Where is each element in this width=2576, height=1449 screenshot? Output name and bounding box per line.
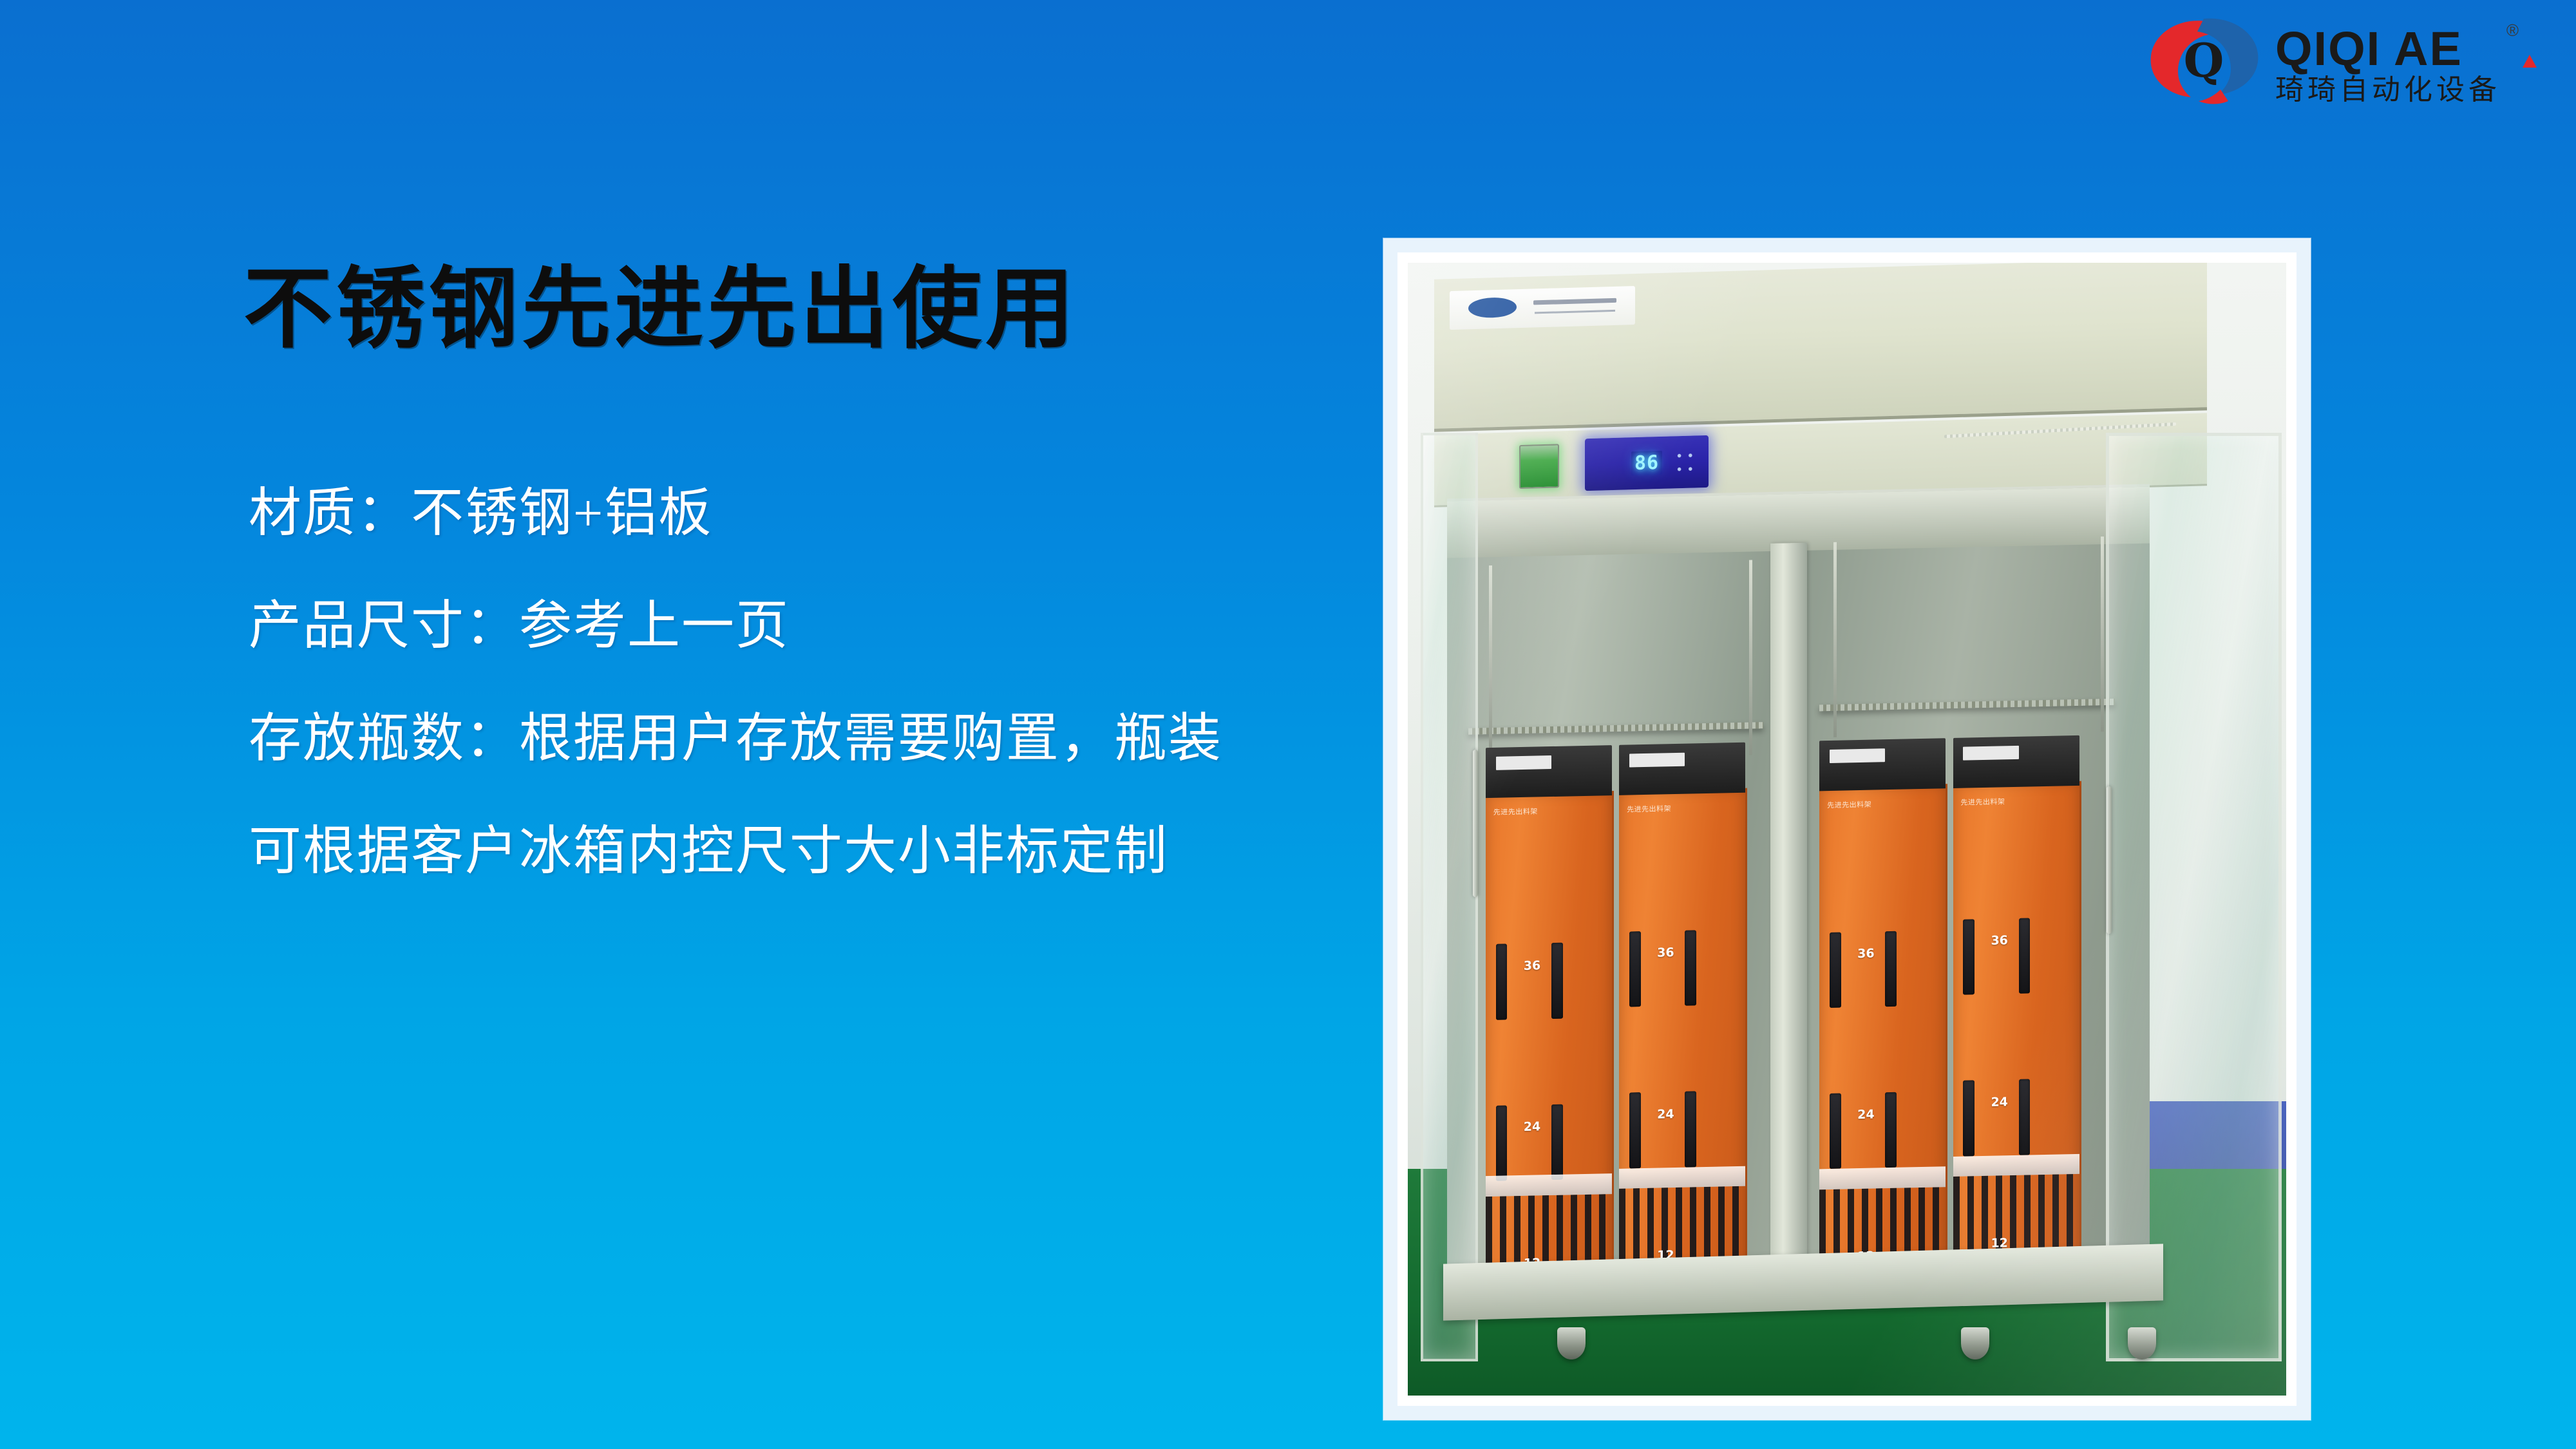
product-photo-mat: 86 先进先出料架	[1397, 252, 2297, 1406]
qiqi-q-logo-icon: Q	[2145, 14, 2264, 117]
company-logo: Q QIQI AE ® 琦琦自动化设备	[2145, 12, 2557, 118]
power-switch-icon	[1519, 444, 1559, 489]
rack-band	[1953, 1154, 2079, 1177]
fridge-top-hood	[1434, 263, 2207, 432]
product-photo-frame: 86 先进先出料架	[1383, 238, 2311, 1420]
wire-shelf-left	[1468, 723, 1763, 735]
caster-wheel-icon	[1961, 1327, 1989, 1359]
door-handle-icon	[2107, 786, 2112, 934]
temperature-display: 86	[1585, 435, 1709, 491]
rack-number: 24	[1524, 1120, 1540, 1135]
spec-paragraph-material: 材质：不锈钢+铝板	[249, 480, 1343, 547]
glass-door-right-open	[2106, 433, 2282, 1361]
registered-trademark-icon: ®	[2506, 23, 2520, 39]
spec-paragraph-custom: 可根据客户冰箱内控尺寸大小非标定制	[249, 818, 1343, 885]
rack-number: 24	[1991, 1095, 2008, 1110]
caster-wheel-icon	[1557, 1327, 1586, 1359]
product-photo-refrigerator: 86 先进先出料架	[1408, 263, 2286, 1396]
fridge-cabinet-interior: 先进先出料架 36 24 12 先进先出料架	[1447, 484, 2150, 1314]
display-indicator-icons	[1674, 448, 1701, 476]
rack-number: 36	[1524, 959, 1540, 974]
rack-label: 先进先出料架	[1627, 803, 1738, 871]
shelf-post	[2101, 536, 2104, 732]
wire-shelf-right	[1820, 699, 2115, 712]
shelf-post	[1834, 542, 1837, 737]
rack-number: 24	[1657, 1107, 1674, 1122]
brand-sticker-icon	[1450, 285, 1635, 329]
fifo-rack: 先进先出料架 36 24 12	[1953, 781, 2081, 1288]
rack-number: 36	[1858, 947, 1875, 961]
body-copy: 材质：不锈钢+铝板 产品尺寸：参考上一页 存放瓶数：根据用户存放需要购置，瓶装 …	[249, 480, 1343, 885]
rack-label: 先进先出料架	[1961, 796, 2072, 864]
fifo-rack-group-left: 先进先出料架 36 24 12 先进先出料架	[1486, 788, 1753, 1297]
spec-paragraph-capacity: 存放瓶数：根据用户存放需要购置，瓶装	[249, 705, 1343, 773]
caster-wheel-icon	[2128, 1327, 2156, 1359]
rack-number: 36	[1991, 934, 2008, 949]
rack-label: 先进先出料架	[1493, 806, 1604, 874]
temperature-value: 86	[1631, 451, 1662, 475]
rack-top-cap	[1486, 745, 1612, 798]
rack-band	[1620, 1166, 1746, 1189]
spec-paragraph-dimensions: 产品尺寸：参考上一页	[249, 592, 1343, 660]
rack-top-cap	[1820, 739, 1946, 791]
rack-band	[1486, 1174, 1612, 1197]
fifo-rack-group-right: 先进先出料架 36 24 12 先进先出料架	[1820, 781, 2087, 1290]
fifo-rack: 先进先出料架 36 24 12	[1620, 788, 1748, 1294]
logo-wordmark-text: QIQI AE	[2275, 22, 2463, 75]
logo-chinese-name: 琦琦自动化设备	[2275, 74, 2501, 107]
rack-number: 36	[1657, 946, 1674, 961]
logo-wordmark: QIQI AE ®	[2275, 26, 2501, 71]
rack-band	[1820, 1167, 1946, 1189]
shelf-post	[1750, 560, 1753, 755]
rack-number: 24	[1858, 1108, 1875, 1122]
rack-label: 先进先出料架	[1827, 799, 1938, 867]
glass-door-left	[1421, 433, 1478, 1361]
svg-text:Q: Q	[2184, 33, 2224, 88]
shelf-post	[1490, 565, 1493, 761]
cabinet-center-divider	[1770, 543, 1807, 1308]
page-title: 不锈钢先进先出使用	[243, 261, 1078, 359]
fifo-rack: 先进先出料架 36 24 12	[1820, 784, 1948, 1291]
rack-top-cap	[1620, 743, 1746, 795]
door-handle-icon	[1473, 750, 1478, 898]
rack-top-cap	[1953, 735, 2079, 788]
fifo-rack: 先进先出料架 36 24 12	[1486, 791, 1614, 1298]
logo-red-accent-icon	[2523, 55, 2537, 68]
